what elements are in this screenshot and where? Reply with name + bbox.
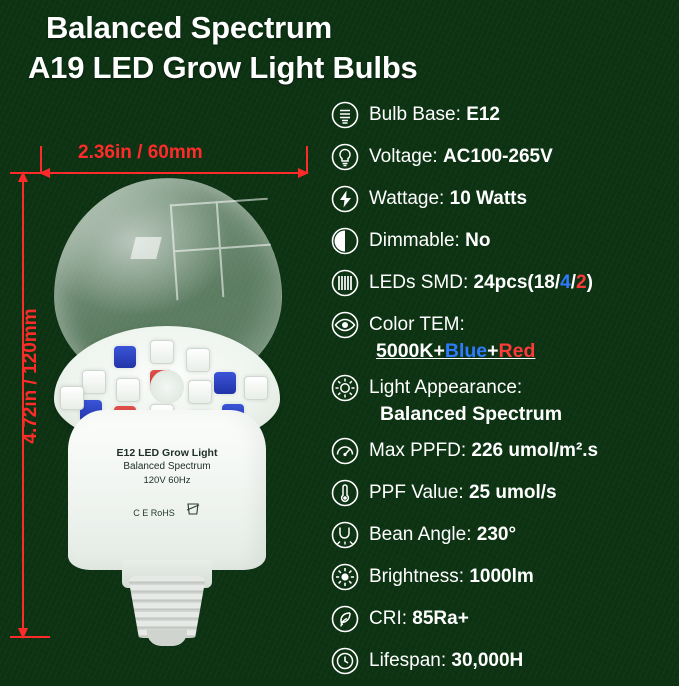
spec-label-beam-angle: Bean Angle: <box>369 524 471 545</box>
bulb-label-line-2: Balanced Spectrum <box>68 460 266 474</box>
width-dimension-label: 2.36in / 60mm <box>78 142 203 164</box>
cri-icon <box>330 604 360 634</box>
spec-text-lifespan: Lifespan: 30,000H <box>369 644 523 678</box>
lifespan-icon <box>330 646 360 676</box>
voltage-icon <box>330 142 360 172</box>
spec-text-dimmable: Dimmable: No <box>369 224 490 258</box>
highlight-reflection <box>130 237 161 259</box>
color-tem-red: Red <box>499 340 536 362</box>
spec-label-ppf-value: PPF Value: <box>369 482 464 503</box>
cert-text: C E RoHS <box>133 508 175 518</box>
window-reflection <box>170 198 274 301</box>
dimmable-icon <box>330 226 360 256</box>
color-tem-kelvin: 5000K+ <box>376 340 445 362</box>
spec-text-leds-smd: LEDs SMD: 24pcs(18/4/2) <box>369 266 593 300</box>
spec-value-ppf-value: 25 umol/s <box>469 482 557 503</box>
bulb-base-icon <box>330 100 360 130</box>
spec-label-lifespan: Lifespan: <box>369 650 446 671</box>
wattage-icon <box>330 184 360 214</box>
color-tem-icon <box>330 310 360 340</box>
brightness-icon <box>330 562 360 592</box>
spec-row-dimmable: Dimmable: No <box>330 224 679 265</box>
spec-text-beam-angle: Bean Angle: 230° <box>369 518 516 552</box>
spec-row-light-appearance: Light Appearance: <box>330 371 679 405</box>
spec-text-bulb-base: Bulb Base: E12 <box>369 98 500 132</box>
spec-value-brightness: 1000lm <box>469 566 533 587</box>
spec-label-dimmable: Dimmable: <box>369 230 460 251</box>
spec-text-wattage: Wattage: 10 Watts <box>369 182 527 216</box>
e12-screw-base <box>128 576 206 638</box>
spec-subvalue-color-tem: 5000K+Blue+Red <box>376 339 679 363</box>
spec-label-wattage: Wattage: <box>369 188 444 209</box>
spec-text-color-tem: Color TEM: <box>369 308 465 342</box>
width-arrow <box>40 172 308 174</box>
spec-value-max-ppfd: 226 umol/m².s <box>471 440 598 461</box>
beam-angle-icon <box>330 520 360 550</box>
spec-label-color-tem: Color TEM: <box>369 314 465 335</box>
spec-label-leds-smd: LEDs SMD: <box>369 272 468 293</box>
product-image-panel: 2.36in / 60mm 4.72in / 120mm <box>0 120 330 679</box>
spec-text-light-appearance: Light Appearance: <box>369 371 522 405</box>
spec-label-max-ppfd: Max PPFD: <box>369 440 466 461</box>
certification-marks: C E RoHS <box>68 502 266 518</box>
color-tem-blue: Blue <box>445 340 487 362</box>
spec-row-max-ppfd: Max PPFD: 226 umol/m².s <box>330 434 679 475</box>
spec-value-dimmable: No <box>465 230 490 251</box>
spec-label-brightness: Brightness: <box>369 566 464 587</box>
spec-row-beam-angle: Bean Angle: 230° <box>330 518 679 559</box>
height-dimension-label: 4.72in / 120mm <box>20 301 42 451</box>
color-tem-plus: + <box>487 340 498 362</box>
spec-row-leds-smd: LEDs SMD: 24pcs(18/4/2) <box>330 266 679 307</box>
spec-label-light-appearance: Light Appearance: <box>369 377 522 398</box>
spec-value-lifespan: 30,000H <box>451 650 523 671</box>
page-title: Balanced Spectrum A19 LED Grow Light Bul… <box>18 8 664 88</box>
spec-value-leds-smd-red: 2 <box>576 272 587 293</box>
ppf-value-icon <box>330 478 360 508</box>
spec-value-beam-angle: 230° <box>477 524 516 545</box>
spec-row-brightness: Brightness: 1000lm <box>330 560 679 601</box>
max-ppfd-icon <box>330 436 360 466</box>
spec-value-leds-smd-b: ) <box>587 272 593 293</box>
specifications-list: Bulb Base: E12 Voltage: AC100-265V Watta… <box>330 98 679 686</box>
bulb-printed-label: E12 LED Grow Light Balanced Spectrum 120… <box>68 446 266 488</box>
spec-row-bulb-base: Bulb Base: E12 <box>330 98 679 139</box>
leds-smd-icon <box>330 268 360 298</box>
bulb-label-line-1: E12 LED Grow Light <box>68 446 266 460</box>
spec-value-leds-smd-a: 24pcs(18/ <box>474 272 561 293</box>
title-line-2: A19 LED Grow Light Bulbs <box>18 48 664 88</box>
spec-label-voltage: Voltage: <box>369 146 438 167</box>
spec-label-cri: CRI: <box>369 608 407 629</box>
spec-text-voltage: Voltage: AC100-265V <box>369 140 553 174</box>
spec-row-cri: CRI: 85Ra+ <box>330 602 679 643</box>
spec-text-ppf-value: PPF Value: 25 umol/s <box>369 476 557 510</box>
bulb-body: E12 LED Grow Light Balanced Spectrum 120… <box>68 410 266 570</box>
spec-subvalue-light-appearance: Balanced Spectrum <box>380 402 679 426</box>
spec-value-leds-smd-blue: 4 <box>560 272 571 293</box>
spec-row-voltage: Voltage: AC100-265V <box>330 140 679 181</box>
led-plate-center <box>150 370 184 404</box>
spec-text-brightness: Brightness: 1000lm <box>369 560 534 594</box>
spec-text-cri: CRI: 85Ra+ <box>369 602 469 636</box>
spec-row-ppf-value: PPF Value: 25 umol/s <box>330 476 679 517</box>
spec-value-cri: 85Ra+ <box>412 608 469 629</box>
spec-row-wattage: Wattage: 10 Watts <box>330 182 679 223</box>
spec-label-bulb-base: Bulb Base: <box>369 104 461 125</box>
recycle-bin-icon <box>185 502 201 516</box>
spec-value-voltage: AC100-265V <box>443 146 553 167</box>
title-line-1: Balanced Spectrum <box>18 8 664 48</box>
spec-text-max-ppfd: Max PPFD: 226 umol/m².s <box>369 434 598 468</box>
spec-value-wattage: 10 Watts <box>450 188 527 209</box>
spec-row-color-tem: Color TEM: <box>330 308 679 342</box>
spec-value-bulb-base: E12 <box>466 104 500 125</box>
screw-base-tip <box>147 630 187 646</box>
led-bulb-illustration: E12 LED Grow Light Balanced Spectrum 120… <box>44 178 290 638</box>
bulb-label-line-3: 120V 60Hz <box>68 474 266 488</box>
light-appearance-icon <box>330 373 360 403</box>
